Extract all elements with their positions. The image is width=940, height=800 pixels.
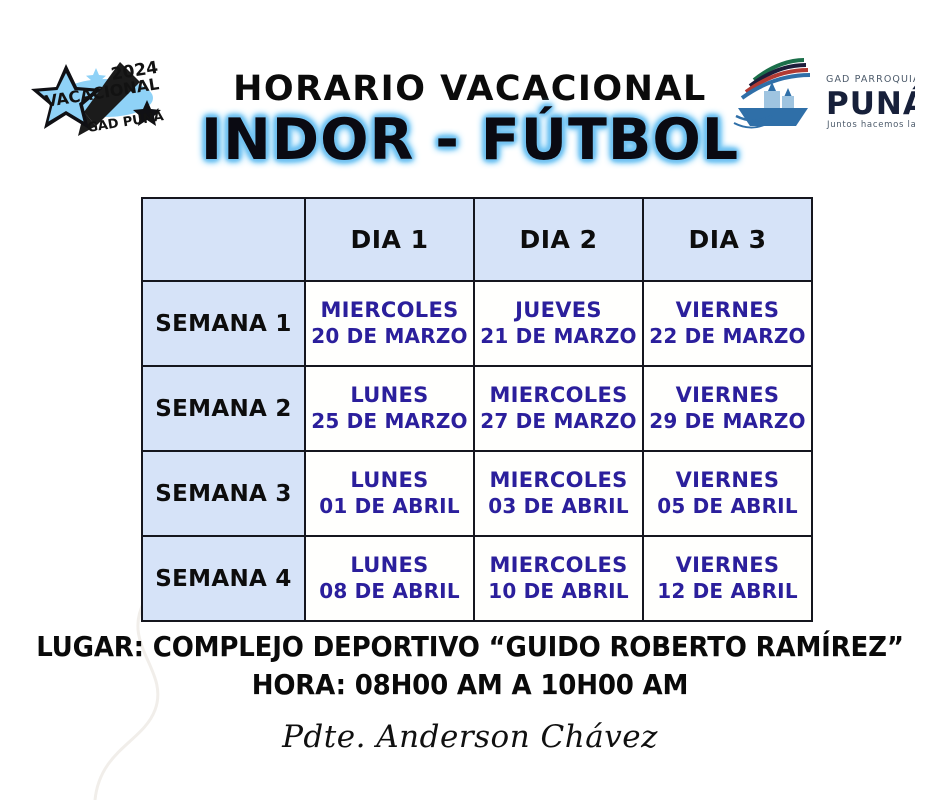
cell-semana-1-dia-3: VIERNES 22 DE MARZO xyxy=(643,281,812,366)
schedule-table-container: DIA 1 DIA 2 DIA 3 SEMANA 1 MIERCOLES 20 … xyxy=(141,197,812,622)
signature-line: Pdte. Anderson Chávez xyxy=(0,719,940,755)
schedule-table: DIA 1 DIA 2 DIA 3 SEMANA 1 MIERCOLES 20 … xyxy=(141,197,813,622)
poster-footer: LUGAR: COMPLEJO DEPORTIVO “GUIDO ROBERTO… xyxy=(0,628,940,755)
day-name: VIERNES xyxy=(644,382,811,409)
column-header-dia-3: DIA 3 xyxy=(643,198,812,281)
row-header-semana-2: SEMANA 2 xyxy=(142,366,305,451)
day-date: 27 DE MARZO xyxy=(475,409,642,435)
day-name: MIERCOLES xyxy=(475,467,642,494)
day-date: 25 DE MARZO xyxy=(306,409,473,435)
row-header-semana-4: SEMANA 4 xyxy=(142,536,305,621)
row-header-semana-1: SEMANA 1 xyxy=(142,281,305,366)
table-row: SEMANA 3 LUNES 01 DE ABRIL MIERCOLES 03 … xyxy=(142,451,812,536)
page-title: INDOR - FÚTBOL xyxy=(0,111,940,171)
table-row: SEMANA 4 LUNES 08 DE ABRIL MIERCOLES 10 … xyxy=(142,536,812,621)
column-header-corner xyxy=(142,198,305,281)
cell-semana-3-dia-3: VIERNES 05 DE ABRIL xyxy=(643,451,812,536)
day-date: 22 DE MARZO xyxy=(644,324,811,350)
time-line: HORA: 08H00 AM A 10H00 AM xyxy=(33,666,907,704)
title-block: HORARIO VACACIONAL INDOR - FÚTBOL xyxy=(0,72,940,171)
day-name: MIERCOLES xyxy=(306,297,473,324)
page-subtitle: HORARIO VACACIONAL xyxy=(0,72,940,107)
day-name: MIERCOLES xyxy=(475,382,642,409)
column-header-dia-2: DIA 2 xyxy=(474,198,643,281)
day-date: 03 DE ABRIL xyxy=(475,494,642,520)
day-date: 12 DE ABRIL xyxy=(644,579,811,605)
day-name: VIERNES xyxy=(644,552,811,579)
row-header-semana-3: SEMANA 3 xyxy=(142,451,305,536)
venue-line: LUGAR: COMPLEJO DEPORTIVO “GUIDO ROBERTO… xyxy=(33,628,907,666)
cell-semana-4-dia-1: LUNES 08 DE ABRIL xyxy=(305,536,474,621)
cell-semana-2-dia-2: MIERCOLES 27 DE MARZO xyxy=(474,366,643,451)
cell-semana-1-dia-1: MIERCOLES 20 DE MARZO xyxy=(305,281,474,366)
day-date: 08 DE ABRIL xyxy=(306,579,473,605)
day-date: 29 DE MARZO xyxy=(644,409,811,435)
day-date: 05 DE ABRIL xyxy=(644,494,811,520)
day-name: LUNES xyxy=(306,467,473,494)
day-name: VIERNES xyxy=(644,297,811,324)
cell-semana-2-dia-3: VIERNES 29 DE MARZO xyxy=(643,366,812,451)
day-date: 10 DE ABRIL xyxy=(475,579,642,605)
day-name: JUEVES xyxy=(475,297,642,324)
cell-semana-1-dia-2: JUEVES 21 DE MARZO xyxy=(474,281,643,366)
column-header-dia-1: DIA 1 xyxy=(305,198,474,281)
poster-page: 2024 VACACIONAL GAD PUNÁ GAD PARROQUIAL … xyxy=(0,0,940,788)
day-name: LUNES xyxy=(306,382,473,409)
day-name: VIERNES xyxy=(644,467,811,494)
day-name: MIERCOLES xyxy=(475,552,642,579)
day-date: 20 DE MARZO xyxy=(306,324,473,350)
table-row: SEMANA 1 MIERCOLES 20 DE MARZO JUEVES 21… xyxy=(142,281,812,366)
cell-semana-4-dia-3: VIERNES 12 DE ABRIL xyxy=(643,536,812,621)
cell-semana-3-dia-1: LUNES 01 DE ABRIL xyxy=(305,451,474,536)
table-row: SEMANA 2 LUNES 25 DE MARZO MIERCOLES 27 … xyxy=(142,366,812,451)
day-date: 21 DE MARZO xyxy=(475,324,642,350)
day-name: LUNES xyxy=(306,552,473,579)
poster-header: 2024 VACACIONAL GAD PUNÁ GAD PARROQUIAL … xyxy=(0,0,940,170)
cell-semana-2-dia-1: LUNES 25 DE MARZO xyxy=(305,366,474,451)
cell-semana-4-dia-2: MIERCOLES 10 DE ABRIL xyxy=(474,536,643,621)
table-header-row: DIA 1 DIA 2 DIA 3 xyxy=(142,198,812,281)
cell-semana-3-dia-2: MIERCOLES 03 DE ABRIL xyxy=(474,451,643,536)
day-date: 01 DE ABRIL xyxy=(306,494,473,520)
